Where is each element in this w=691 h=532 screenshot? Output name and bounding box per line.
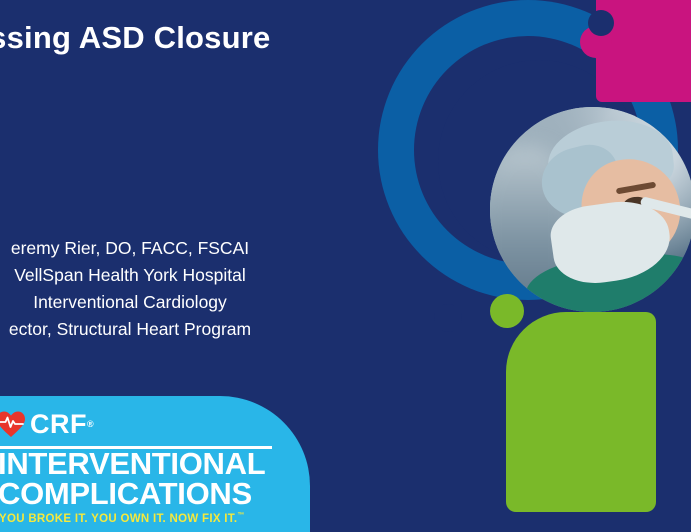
green-puzzle-piece xyxy=(506,312,656,512)
logo-inner: CRF ® INTERVENTIONAL COMPLICATIONS YOU B… xyxy=(0,396,310,532)
presenter-name: eremy Rier, DO, FACC, FSCAI xyxy=(0,235,320,262)
trademark-mark: ™ xyxy=(237,512,244,519)
logo-tagline-text: YOU BROKE IT. YOU OWN IT. NOW FIX IT. xyxy=(0,513,237,525)
heart-icon xyxy=(0,410,26,438)
slide-title: ossing ASD Closure xyxy=(0,20,400,56)
presenter-institution: VellSpan Health York Hospital xyxy=(0,262,320,289)
registered-mark: ® xyxy=(87,419,94,429)
magenta-puzzle-notch xyxy=(588,10,614,36)
surgeon-photo xyxy=(490,107,691,312)
presenter-role: ector, Structural Heart Program xyxy=(0,316,320,343)
green-puzzle-notch xyxy=(434,304,462,332)
crf-logo: CRF ® xyxy=(0,410,94,438)
crf-wordmark: CRF xyxy=(30,411,87,438)
presenter-department: Interventional Cardiology xyxy=(0,289,320,316)
logo-panel: CRF ® INTERVENTIONAL COMPLICATIONS YOU B… xyxy=(0,396,310,532)
circular-puzzle-graphic xyxy=(378,0,691,522)
logo-line-complications: COMPLICATIONS xyxy=(0,478,252,510)
logo-tagline: YOU BROKE IT. YOU OWN IT. NOW FIX IT.™ xyxy=(0,512,245,525)
presenter-block: eremy Rier, DO, FACC, FSCAI VellSpan Hea… xyxy=(0,235,320,343)
presentation-slide: ossing ASD Closure eremy Rier, DO, FACC,… xyxy=(0,0,691,532)
